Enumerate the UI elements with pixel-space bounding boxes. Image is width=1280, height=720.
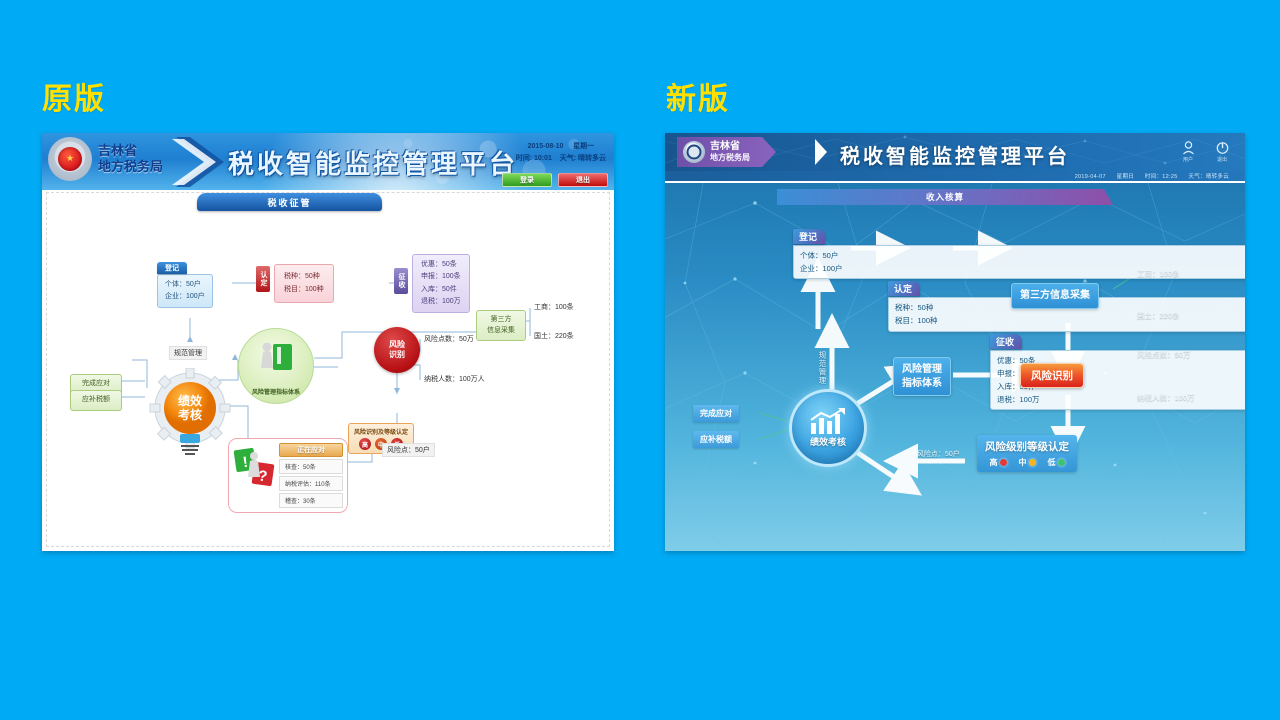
old-third-party-line1: 第三方 <box>483 315 519 326</box>
old-node-register-body: 个体：50户 企业：100户 <box>157 274 213 308</box>
svg-text:绩效: 绩效 <box>178 393 203 408</box>
new-risk-index-line2: 指标体系 <box>902 377 942 391</box>
gear-lightbulb-icon: 绩效 考核 <box>147 368 233 460</box>
power-icon[interactable]: 退出 <box>1213 141 1231 163</box>
new-header-meta: 2019-04-07 星期日 时间：12:25 天气：晴转多云 <box>1066 172 1229 180</box>
new-collect-line-3: 退税：100万 <box>997 393 1245 406</box>
new-node-register-title: 登记 <box>793 229 825 244</box>
old-risk-level-high: 高 <box>359 438 371 450</box>
old-third-party-line2: 信息采集 <box>483 326 519 337</box>
old-responding-row-1: 纳税评估：110条 <box>279 476 343 491</box>
new-third-party-leaf-0: 工商：100条 <box>1137 268 1180 279</box>
old-app-body: 税收征管 <box>42 190 614 551</box>
old-collect-line-3: 退税：100万 <box>421 296 461 308</box>
new-risk-level-low: 低 <box>1048 457 1065 468</box>
new-node-risk-identify[interactable]: 风险识别 <box>1020 363 1084 388</box>
old-node-confirm-detail: 税种：50种 税目：100种 <box>274 264 334 303</box>
old-responding-row-2: 稽查：30条 <box>279 493 343 508</box>
new-node-third-party[interactable]: 第三方信息采集 <box>1011 283 1099 309</box>
old-weekday: 星期一 <box>573 143 594 150</box>
tab-tax-collection[interactable]: 税收征管 <box>197 193 382 211</box>
old-node-collect: 征收 <box>394 268 408 296</box>
new-register-line-0: 个体：50户 <box>800 249 1245 262</box>
new-confirm-line-1: 税目：100种 <box>895 314 1245 327</box>
old-collect-line-0: 优惠：50条 <box>421 259 461 271</box>
bar-chart-growth-icon <box>808 408 848 434</box>
old-node-collect-detail: 优惠：50条 申报：100条 入库：50件 退税：100万 <box>412 254 470 313</box>
old-logo: 吉林省 地方税务局 <box>48 137 163 181</box>
new-node-risk-level[interactable]: 风险级别等级认定 高 中 低 <box>977 435 1077 472</box>
old-responding-row-0: 核查：50条 <box>279 459 343 474</box>
new-app-header: 吉林省 地方税务局 税收智能监控管理平台 用户 <box>665 133 1245 171</box>
new-weekday: 星期日 <box>1117 174 1134 180</box>
new-risk-level-high: 高 <box>990 457 1007 468</box>
national-emblem-icon <box>48 137 92 181</box>
power-icon-caption: 退出 <box>1213 156 1231 163</box>
new-version-screenshot: 吉林省 地方税务局 税收智能监控管理平台 用户 <box>665 133 1245 551</box>
old-node-performance: 绩效 考核 <box>147 368 233 460</box>
status-dot-low <box>1058 459 1065 466</box>
new-risk-identify-leaf-0: 风险点数：50万 <box>1137 349 1190 360</box>
old-third-party-leaf-0: 工商：100条 <box>534 302 574 312</box>
old-node-collect-title: 征收 <box>394 268 408 294</box>
new-performance-label: 绩效考核 <box>810 435 846 448</box>
new-node-risk-index-system[interactable]: 风险管理 指标体系 <box>893 357 951 396</box>
old-date-row: 2015-08-10 星期一 <box>516 141 606 153</box>
new-risk-level-mid-label: 中 <box>1019 457 1027 468</box>
new-risk-identify-leaf-1: 纳税人数：100万 <box>1137 392 1195 403</box>
old-confirm-line-0: 税种：50种 <box>284 270 324 283</box>
old-risk-point-label: 风险点：50户 <box>382 443 435 457</box>
comparison-stage: 原版 新版 吉林省 地方税务局 税收智能监控管理平台 2015-08-10 <box>0 0 1280 720</box>
old-node-confirm: 认定 <box>256 266 270 294</box>
old-weather-label: 天气: <box>560 155 576 162</box>
old-node-register: 登记 个体：50户 企业：100户 <box>157 262 213 308</box>
new-node-performance[interactable]: 绩效考核 <box>789 389 867 467</box>
old-confirm-line-1: 税目：100种 <box>284 283 324 296</box>
chevron-right-icon <box>815 139 827 165</box>
old-register-line-1: 企业：100户 <box>165 291 205 303</box>
new-date: 2019-04-07 <box>1075 174 1106 180</box>
old-risk-level-title: 风险识别及等级认定 <box>354 427 408 436</box>
new-risk-level-high-label: 高 <box>990 457 998 468</box>
old-risk-identify-leaf-0: 风险点数：50万 <box>424 334 474 344</box>
old-time-row: 时间: 10:01 天气: 晴转多云 <box>516 153 606 165</box>
svg-text:考核: 考核 <box>178 407 202 422</box>
old-header-buttons: 登录 退出 <box>502 173 608 187</box>
old-node-risk-index-system: 风险管理指标体系 <box>238 328 314 404</box>
old-tag-tax-payable: 应补税额 <box>70 390 122 411</box>
old-version-caption: 原版 <box>42 74 106 118</box>
old-node-responding: ! ? 正在应对 核查：50条 纳税评估：110条 稽查：30条 <box>228 438 348 513</box>
new-tag-tax-payable[interactable]: 应补税额 <box>693 431 739 448</box>
new-time: 时间：12:25 <box>1145 174 1178 180</box>
old-node-register-title: 登记 <box>157 262 187 274</box>
old-collect-line-1: 申报：100条 <box>421 271 461 283</box>
old-time: 10:01 <box>534 155 552 162</box>
book-person-icon <box>256 338 298 380</box>
old-logo-line1: 吉林省 <box>98 143 163 159</box>
new-node-collect-title: 征收 <box>990 334 1022 349</box>
old-third-party-leaf-1: 国土：220条 <box>534 331 574 341</box>
user-icon[interactable]: 用户 <box>1179 141 1197 163</box>
old-weather: 晴转多云 <box>578 155 606 162</box>
old-version-screenshot: 吉林省 地方税务局 税收智能监控管理平台 2015-08-10 星期一 时间: … <box>42 133 614 551</box>
old-register-line-0: 个体：50户 <box>165 279 205 291</box>
status-dot-mid <box>1029 459 1036 466</box>
user-icon-caption: 用户 <box>1179 156 1197 163</box>
new-page-title: 税收智能监控管理平台 <box>665 140 1245 169</box>
old-logo-line2: 地方税务局 <box>98 159 163 175</box>
question-exclamation-icon: ! ? <box>233 443 275 489</box>
old-logo-text: 吉林省 地方税务局 <box>98 143 163 176</box>
new-app-body: 收入核算 <box>665 183 1245 549</box>
old-header-meta: 2015-08-10 星期一 时间: 10:01 天气: 晴转多云 <box>516 141 606 165</box>
old-node-risk-identify: 风险 识别 <box>374 327 420 373</box>
new-tag-completed-response[interactable]: 完成应对 <box>693 405 739 422</box>
old-responding-title: 正在应对 <box>279 443 343 457</box>
new-weather: 天气：晴转多云 <box>1188 174 1229 180</box>
old-risk-index-system-label: 风险管理指标体系 <box>252 387 300 403</box>
new-risk-level-low-label: 低 <box>1048 457 1056 468</box>
new-third-party-leaf-1: 国土：220条 <box>1137 310 1180 321</box>
new-version-caption: 新版 <box>666 74 730 118</box>
old-standard-mgmt-label: 规范管理 <box>169 346 207 360</box>
old-node-third-party: 第三方 信息采集 <box>476 310 526 341</box>
old-date: 2015-08-10 <box>528 143 564 150</box>
new-risk-index-line1: 风险管理 <box>902 363 942 377</box>
new-risk-level-mid: 中 <box>1019 457 1036 468</box>
new-risk-level-title: 风险级别等级认定 <box>985 439 1069 454</box>
new-risk-point-label: 风险点：50户 <box>917 449 960 459</box>
old-node-confirm-title: 认定 <box>256 266 270 292</box>
old-collect-line-2: 入库：50件 <box>421 284 461 296</box>
new-header-icons: 用户 退出 <box>1179 141 1231 163</box>
logout-button[interactable]: 退出 <box>558 173 608 187</box>
old-time-label: 时间: <box>516 155 532 162</box>
old-page-title: 税收智能监控管理平台 <box>228 144 518 181</box>
old-risk-identify-line1: 风险 <box>389 340 405 350</box>
status-dot-high <box>1000 459 1007 466</box>
chevron-right-icon <box>170 135 228 189</box>
old-risk-identify-line2: 识别 <box>389 350 405 360</box>
new-risk-level-dots: 高 中 低 <box>985 457 1069 468</box>
revenue-accounting-banner: 收入核算 <box>777 189 1113 205</box>
login-button[interactable]: 登录 <box>502 173 552 187</box>
old-risk-identify-leaf-1: 纳税人数：100万人 <box>424 374 485 384</box>
new-status-bar: 2019-04-07 星期日 时间：12:25 天气：晴转多云 <box>665 171 1245 183</box>
old-app-header: 吉林省 地方税务局 税收智能监控管理平台 2015-08-10 星期一 时间: … <box>42 133 614 190</box>
new-node-confirm-title: 认定 <box>888 281 920 296</box>
